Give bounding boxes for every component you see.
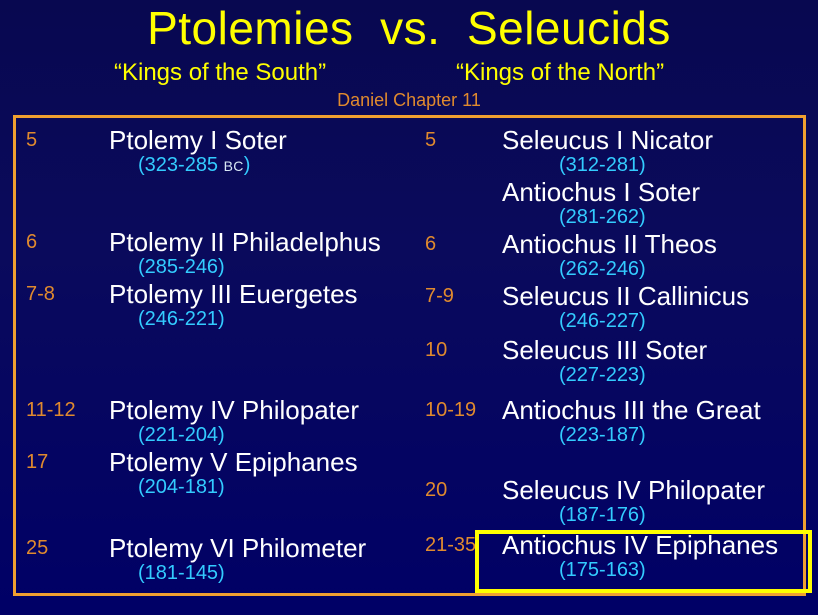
reign-dates: (223-187) xyxy=(559,423,646,447)
verse-number: 11-12 xyxy=(26,398,76,422)
reign-dates: (227-223) xyxy=(559,363,646,387)
verse-number: 17 xyxy=(26,450,48,474)
verse-number: 7-8 xyxy=(26,282,55,306)
reign-dates: (246-221) xyxy=(138,307,225,331)
reign-dates: (181-145) xyxy=(138,561,225,585)
column-seleucids: 5Seleucus I Nicator(312-281)Antiochus I … xyxy=(411,118,806,593)
verse-number: 10-19 xyxy=(425,398,476,422)
verse-number: 6 xyxy=(425,232,436,256)
reign-dates: (204-181) xyxy=(138,475,225,499)
era-label: BC xyxy=(224,158,244,174)
verse-number: 21-35 xyxy=(425,533,476,557)
reign-dates: (323-285 BC) xyxy=(138,153,250,178)
ruler-name: Ptolemy V Epiphanes xyxy=(109,447,358,477)
reign-range: (323-285 xyxy=(138,154,224,176)
reign-dates: (281-262) xyxy=(559,205,646,229)
slide-canvas: Ptolemies vs. Seleucids “Kings of the So… xyxy=(0,0,818,615)
reign-dates: (221-204) xyxy=(138,423,225,447)
ruler-name: Ptolemy III Euergetes xyxy=(109,279,358,309)
reign-dates: (312-281) xyxy=(559,153,646,177)
verse-number: 20 xyxy=(425,478,447,502)
subtitle-kings-of-the-south: “Kings of the South” xyxy=(114,59,326,87)
reign-close-paren: ) xyxy=(244,154,251,176)
column-ptolemies: 5Ptolemy I Soter(323-285 BC)6Ptolemy II … xyxy=(16,118,411,593)
verse-number: 10 xyxy=(425,338,447,362)
ruler-name: Ptolemy I Soter xyxy=(109,125,287,155)
ruler-name: Seleucus III Soter xyxy=(502,335,707,365)
reign-dates: (187-176) xyxy=(559,503,646,527)
ruler-name: Ptolemy IV Philopater xyxy=(109,395,359,425)
reign-dates: (285-246) xyxy=(138,255,225,279)
ruler-name: Antiochus II Theos xyxy=(502,229,717,259)
verse-number: 5 xyxy=(26,128,37,152)
verse-number: 7-9 xyxy=(425,284,454,308)
verse-number: 25 xyxy=(26,536,48,560)
page-title: Ptolemies vs. Seleucids xyxy=(0,2,818,54)
scripture-reference: Daniel Chapter 11 xyxy=(0,89,818,111)
ruler-name: Antiochus I Soter xyxy=(502,177,700,207)
subtitle-row: “Kings of the South” “Kings of the North… xyxy=(0,59,818,87)
comparison-table-frame: 5Ptolemy I Soter(323-285 BC)6Ptolemy II … xyxy=(13,115,806,596)
reign-dates: (262-246) xyxy=(559,257,646,281)
ruler-name: Seleucus II Callinicus xyxy=(502,281,749,311)
ruler-name: Ptolemy VI Philometer xyxy=(109,533,366,563)
highlight-box-antiochus-iv xyxy=(475,530,812,593)
ruler-name: Antiochus III the Great xyxy=(502,395,761,425)
subtitle-kings-of-the-north: “Kings of the North” xyxy=(456,59,664,87)
ruler-name: Ptolemy II Philadelphus xyxy=(109,227,381,257)
ruler-name: Seleucus I Nicator xyxy=(502,125,713,155)
reign-dates: (246-227) xyxy=(559,309,646,333)
verse-number: 5 xyxy=(425,128,436,152)
ruler-name: Seleucus IV Philopater xyxy=(502,475,765,505)
verse-number: 6 xyxy=(26,230,37,254)
